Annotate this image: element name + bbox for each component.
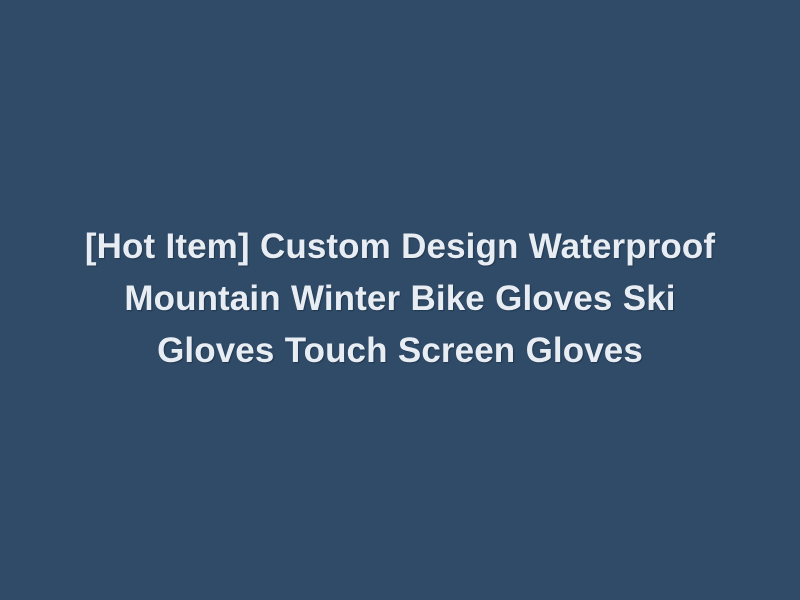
- product-title-card: [Hot Item] Custom Design Waterproof Moun…: [0, 0, 800, 600]
- page-title-line-3: Gloves Touch Screen Gloves: [40, 325, 760, 377]
- title-block: [Hot Item] Custom Design Waterproof Moun…: [40, 221, 760, 377]
- page-title-line-1: [Hot Item] Custom Design Waterproof: [40, 221, 760, 273]
- page-title: [Hot Item] Custom Design Waterproof Moun…: [40, 221, 760, 377]
- page-title-line-2: Mountain Winter Bike Gloves Ski: [40, 273, 760, 325]
